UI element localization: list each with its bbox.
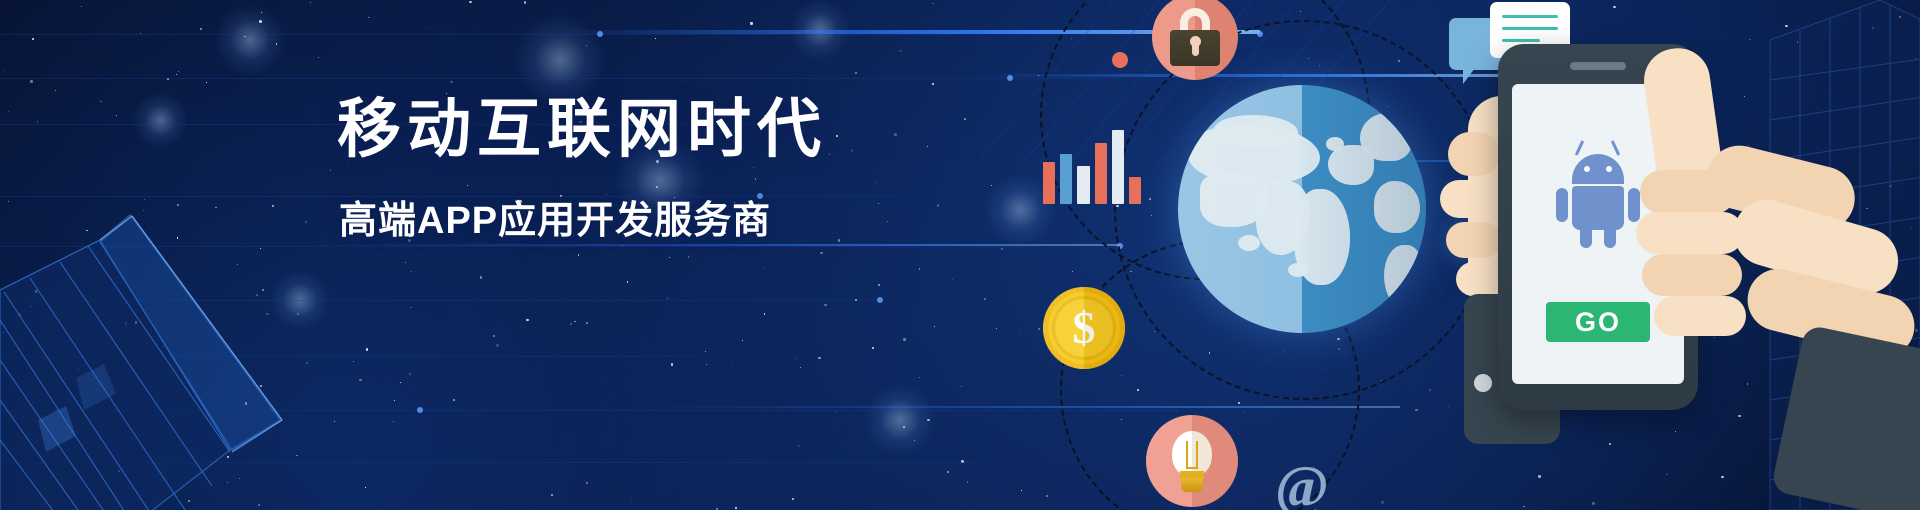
star [947, 471, 949, 473]
star [200, 28, 202, 30]
star [1344, 354, 1345, 355]
star [1736, 243, 1737, 244]
star [1119, 227, 1120, 228]
star [820, 252, 823, 255]
star [32, 38, 34, 40]
lightbulb-base [1181, 478, 1203, 492]
smartphone: GO [1498, 44, 1708, 424]
light-glow [215, 5, 285, 75]
star [1844, 477, 1846, 479]
star [244, 36, 245, 37]
star [409, 373, 411, 375]
star [883, 32, 884, 33]
star [405, 262, 406, 263]
star [1866, 208, 1868, 210]
star [1785, 25, 1788, 28]
star [800, 367, 801, 368]
light-glow [515, 15, 605, 105]
chat-line [1502, 15, 1558, 18]
bar-chart-bar [1112, 130, 1124, 204]
bar-chart-bar [1129, 177, 1141, 204]
star [1915, 58, 1916, 59]
star [903, 338, 906, 341]
star [952, 279, 953, 280]
star [1448, 406, 1449, 407]
star [410, 307, 411, 308]
star [795, 358, 796, 359]
star [1903, 359, 1904, 360]
star [176, 74, 177, 75]
star [1381, 380, 1382, 381]
star [1842, 499, 1844, 501]
star [586, 322, 588, 324]
at-sign-icon[interactable]: @ [1270, 455, 1334, 510]
star [932, 3, 933, 4]
star [1381, 501, 1383, 503]
star [1244, 412, 1245, 413]
lightbulb-filament [1186, 441, 1198, 469]
star [1791, 410, 1793, 412]
star [1151, 215, 1152, 216]
star [81, 6, 82, 7]
star [1149, 198, 1151, 200]
star [1817, 306, 1819, 308]
star [706, 364, 707, 365]
star [1300, 11, 1301, 12]
star [818, 357, 820, 359]
star [732, 364, 733, 365]
star [1001, 248, 1003, 250]
star [1830, 247, 1832, 249]
star [30, 80, 33, 83]
page-title: 移动互联网时代 [337, 96, 857, 163]
page-subtitle: 高端APP应用开发服务商 [339, 189, 857, 244]
star [1889, 185, 1891, 187]
star [688, 256, 690, 258]
circuit-trace [0, 78, 1120, 79]
star [1538, 475, 1541, 478]
star [1915, 329, 1917, 331]
star [551, 494, 553, 496]
star [1666, 474, 1668, 476]
star [1797, 41, 1799, 43]
star [1020, 334, 1021, 335]
circuit-trace [300, 244, 1120, 246]
bar-chart-bar [1043, 162, 1055, 204]
star [493, 335, 495, 337]
star [1388, 106, 1389, 107]
star [453, 399, 455, 401]
star [669, 257, 670, 258]
star [1613, 6, 1616, 9]
star [116, 115, 117, 116]
star [1121, 419, 1122, 420]
star [667, 298, 668, 299]
star [1471, 117, 1473, 119]
star [798, 445, 800, 447]
star [1760, 193, 1763, 196]
star [1833, 336, 1835, 338]
star [984, 298, 986, 300]
star [991, 185, 992, 186]
star [1609, 443, 1611, 445]
star [622, 245, 624, 247]
star [414, 385, 415, 386]
star [1758, 191, 1760, 193]
star [1829, 95, 1830, 96]
coin-shading [1043, 287, 1125, 369]
star [1398, 60, 1400, 62]
circuit-node [1117, 243, 1123, 249]
star [655, 38, 656, 39]
star [764, 313, 765, 314]
star [524, 1, 526, 3]
star [526, 319, 529, 322]
star [713, 30, 714, 31]
star [742, 340, 743, 341]
star [1337, 338, 1339, 340]
star [855, 299, 857, 301]
star [899, 50, 901, 52]
star [1154, 331, 1155, 332]
star [878, 203, 879, 204]
star [875, 182, 877, 184]
bar-chart-bar [1095, 143, 1107, 204]
promo-banner: 移动互联网时代 高端APP应用开发服务商 $ @ [0, 0, 1920, 510]
star [1464, 427, 1466, 429]
star [1338, 348, 1339, 349]
circuit-node [417, 407, 423, 413]
go-button[interactable]: GO [1546, 302, 1650, 342]
star [1415, 409, 1418, 412]
star [167, 78, 170, 81]
circuit-node [597, 31, 603, 37]
star [450, 81, 453, 84]
star [429, 28, 430, 29]
headline-group: 移动互联网时代 高端APP应用开发服务商 [337, 96, 857, 244]
star [792, 498, 793, 499]
star [1897, 449, 1898, 450]
star [1116, 205, 1118, 207]
star [1308, 58, 1309, 59]
star [750, 22, 752, 24]
bar-chart-bar [1060, 154, 1072, 204]
star [1137, 389, 1139, 391]
star [705, 351, 706, 352]
circuit-trace [640, 406, 1400, 408]
star [1748, 145, 1749, 146]
star [1592, 502, 1595, 505]
star [835, 411, 836, 412]
star [1864, 232, 1865, 233]
star [1747, 383, 1749, 385]
star [627, 281, 628, 282]
phone-screen[interactable]: GO [1512, 84, 1684, 384]
star [855, 72, 857, 74]
star [496, 344, 498, 346]
star [914, 440, 915, 441]
light-glow [790, 0, 850, 60]
star [1130, 271, 1131, 272]
star [140, 33, 141, 34]
star [1675, 431, 1676, 432]
star [1749, 39, 1751, 41]
star [1523, 506, 1524, 507]
star [1072, 271, 1073, 272]
circuit-node [1257, 31, 1263, 37]
star [1872, 27, 1874, 29]
star [964, 118, 966, 120]
star [1238, 402, 1240, 404]
star [469, 1, 472, 4]
star [1146, 255, 1147, 256]
star [1871, 370, 1873, 372]
star [586, 45, 587, 46]
star [961, 460, 964, 463]
star [671, 363, 673, 365]
star [824, 304, 826, 306]
bar-chart-bar [1077, 166, 1089, 204]
star [1283, 350, 1284, 351]
circuit-trace [0, 34, 980, 35]
star [1038, 328, 1040, 330]
star [276, 43, 278, 45]
star [1745, 198, 1747, 200]
chat-line [1502, 39, 1540, 42]
star [932, 83, 934, 85]
star [1038, 75, 1039, 76]
star [410, 271, 411, 272]
star [878, 284, 880, 286]
star [310, 2, 311, 3]
star [570, 323, 572, 325]
lock-keyhole-slot [1192, 38, 1199, 56]
star [1071, 38, 1072, 39]
star [1429, 389, 1431, 391]
star [1744, 96, 1745, 97]
circuit-node [877, 297, 883, 303]
star [1046, 495, 1048, 497]
star [178, 71, 179, 72]
star [368, 17, 370, 19]
star [903, 426, 905, 428]
star [919, 377, 920, 378]
star [735, 507, 736, 508]
star [100, 101, 101, 102]
star [3, 70, 4, 71]
star [1209, 352, 1210, 353]
star [1468, 252, 1470, 254]
star [1738, 415, 1741, 418]
star [259, 20, 262, 23]
phone-speaker [1570, 62, 1626, 70]
star [1831, 239, 1832, 240]
star [1115, 25, 1116, 26]
star [961, 386, 962, 387]
star [937, 204, 939, 206]
android-robot-icon [1556, 140, 1640, 236]
bar-chart-icon[interactable] [1043, 124, 1141, 204]
star [865, 86, 866, 87]
star [1021, 490, 1022, 491]
accent-dot [1112, 52, 1128, 68]
star [894, 133, 897, 136]
star [716, 508, 718, 510]
star [887, 221, 888, 222]
star [872, 347, 874, 349]
coin-dollar-icon[interactable]: $ [1043, 287, 1125, 369]
right-tower-wireframe [1760, 0, 1920, 510]
lightbulb-icon[interactable] [1146, 415, 1238, 507]
star [631, 497, 632, 498]
star [1319, 65, 1320, 66]
world-globe [1178, 85, 1426, 333]
light-glow [865, 385, 935, 455]
star [919, 268, 920, 269]
chat-bubble-back-tail [1463, 68, 1475, 84]
star [574, 321, 575, 322]
star [927, 146, 928, 147]
star [55, 90, 56, 91]
circuit-trace [980, 74, 1500, 77]
light-glow [1435, 205, 1505, 275]
lock-icon[interactable] [1152, 0, 1238, 80]
star [764, 268, 765, 269]
chat-line [1502, 27, 1558, 30]
circuit-node [1007, 75, 1013, 81]
star [1249, 30, 1251, 32]
star [1899, 16, 1901, 18]
star [1721, 476, 1723, 478]
star [206, 82, 207, 83]
star [1490, 219, 1492, 221]
star [1911, 228, 1912, 229]
star [996, 328, 997, 329]
star [480, 276, 482, 278]
star [1764, 163, 1766, 165]
star [261, 12, 262, 13]
star [318, 57, 319, 58]
star [1762, 227, 1764, 229]
star [586, 482, 588, 484]
star [1551, 435, 1553, 437]
star [934, 326, 935, 327]
star [927, 419, 930, 422]
star [1910, 491, 1912, 493]
star [8, 111, 9, 112]
star [967, 481, 969, 483]
star [578, 254, 580, 256]
star [1714, 337, 1715, 338]
star [1121, 375, 1122, 376]
